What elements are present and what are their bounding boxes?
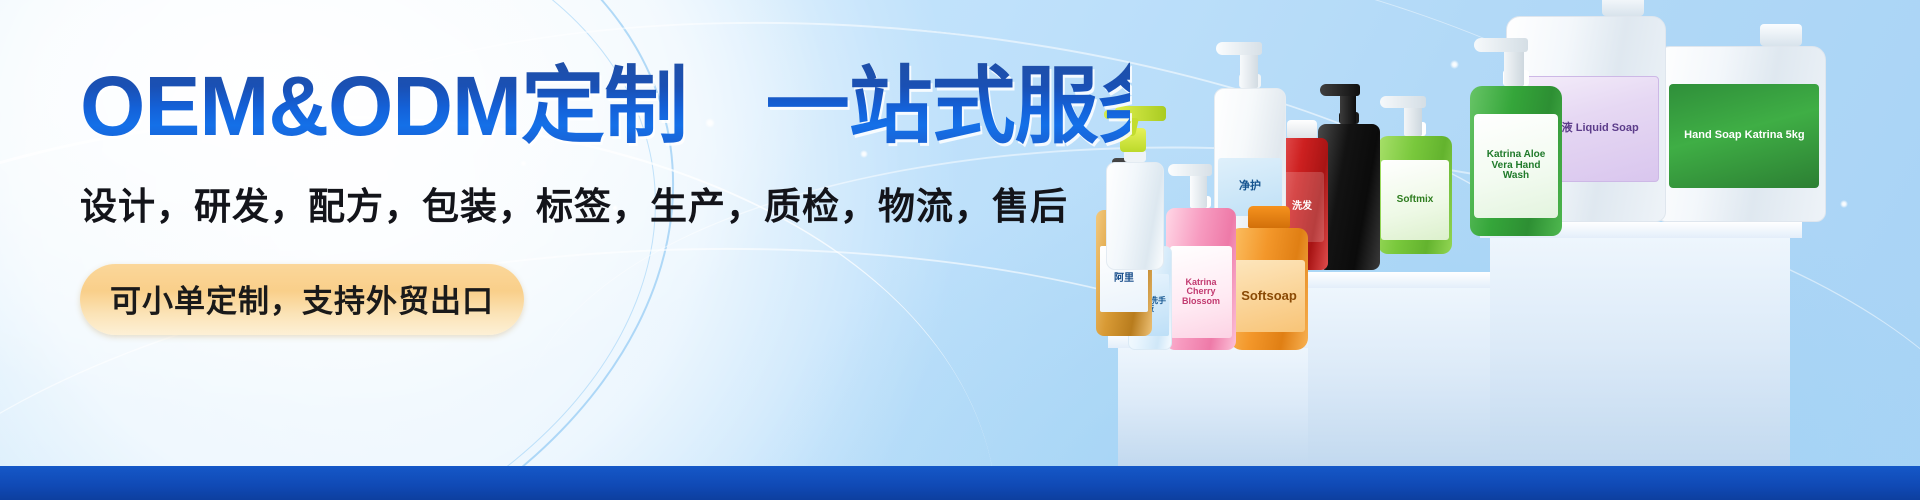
label-brand: Hand Soap Katrina 5kg xyxy=(1678,130,1810,142)
promo-banner: Hand Soap Katrina 5kg 洗手液 Liquid Soap Ka… xyxy=(0,0,1920,500)
product-label: Katrina Cherry Blossom xyxy=(1170,246,1232,338)
headline-part-2: 一站式服务 xyxy=(766,59,1181,153)
pump-head xyxy=(1214,40,1286,88)
product-green-handsoap-can: Hand Soap Katrina 5kg xyxy=(1656,22,1826,222)
podium-right xyxy=(1490,236,1790,466)
label-brand: 净护 xyxy=(1239,181,1261,193)
headline-part-1: OEM&ODM定制 xyxy=(80,59,687,153)
label-brand: Katrina Aloe Vera Hand Wash xyxy=(1474,150,1558,182)
pump-head xyxy=(1470,36,1562,86)
product-green-softmix: Softmix xyxy=(1378,94,1452,254)
product-label: Softsoap xyxy=(1233,260,1305,332)
page-title: OEM&ODM定制 一站式服务 xyxy=(80,62,1130,150)
product-green-aloe-pump: Katrina Aloe Vera Hand Wash xyxy=(1470,36,1562,236)
custom-order-badge[interactable]: 可小单定制，支持外贸出口 xyxy=(80,264,524,335)
pump-head xyxy=(1378,94,1452,136)
services-subtitle: 设计，研发，配方，包装，标签，生产，质检，物流，售后 xyxy=(80,176,1130,230)
label-brand: Softsoap xyxy=(1241,289,1297,303)
product-pink-lotion-pump: Katrina Cherry Blossom xyxy=(1166,160,1236,350)
product-orange-softsoap: Softsoap xyxy=(1230,200,1308,350)
bottom-bar xyxy=(0,466,1920,500)
banner-content: OEM&ODM定制 一站式服务 设计，研发，配方，包装，标签，生产，质检，物流，… xyxy=(80,62,1130,335)
label-brand: Katrina Cherry Blossom xyxy=(1170,278,1232,306)
product-label: Katrina Aloe Vera Hand Wash xyxy=(1474,114,1558,218)
label-brand: Softmix xyxy=(1397,195,1434,206)
product-label: Hand Soap Katrina 5kg xyxy=(1669,84,1819,188)
product-scene: Hand Soap Katrina 5kg 洗手液 Liquid Soap Ka… xyxy=(1090,0,1920,466)
pump-head xyxy=(1166,162,1236,208)
product-label: Softmix xyxy=(1381,160,1449,240)
pump-head xyxy=(1318,82,1380,124)
